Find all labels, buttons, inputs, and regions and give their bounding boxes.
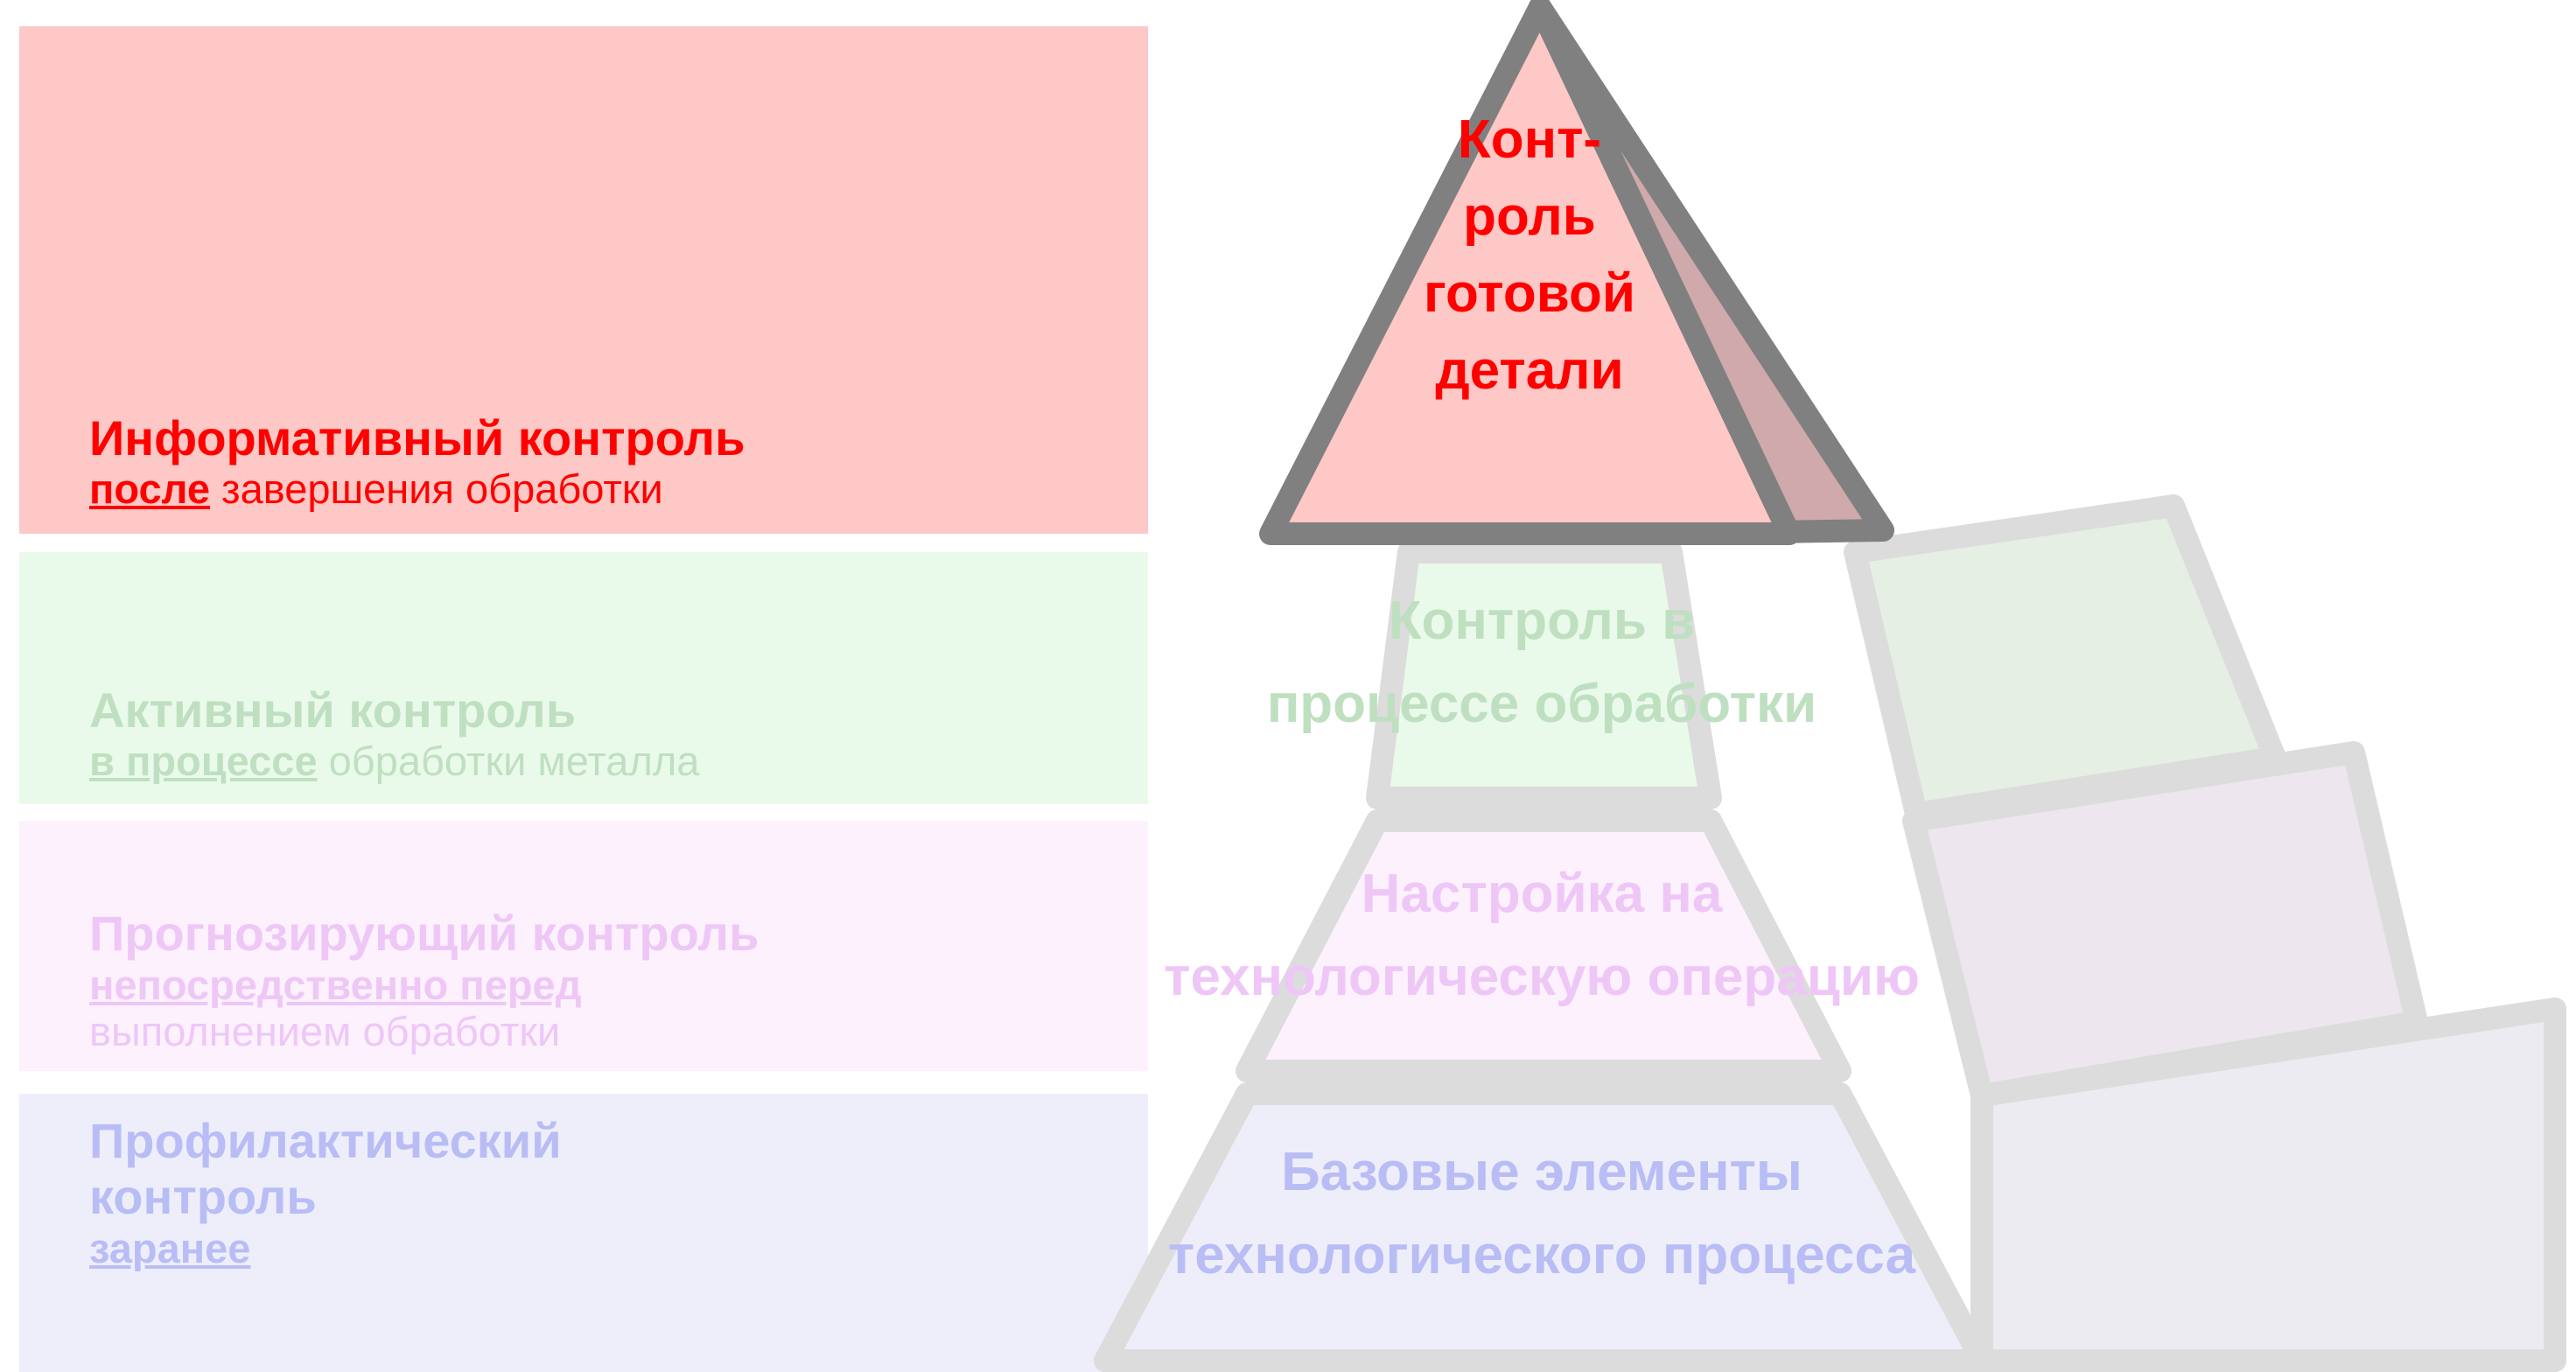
pyramid-tier-predictive <box>1247 821 1840 1071</box>
pyramid-side-face-active <box>1855 506 2275 814</box>
pyramid-label-predictive-line1: Настройка на <box>1361 864 1723 924</box>
pyramid-diagram-canvas: Информативный контроль после завершения … <box>0 0 2576 1372</box>
pyramid-label-informative-line1: Конт- <box>1458 109 1601 170</box>
pyramid-label-predictive-line2: технологическую операцию <box>1164 947 1920 1007</box>
pyramid-label-preventive-line1: Базовые элементы <box>1281 1142 1802 1202</box>
pyramid-label-active-line1: Контроль в <box>1389 591 1696 651</box>
pyramid-label-active-line2: процессе обработки <box>1267 674 1816 734</box>
pyramid-label-informative-line2: роль <box>1463 186 1596 247</box>
pyramid-label-informative-line3: готовой <box>1424 263 1635 324</box>
pyramid-label-informative-line4: детали <box>1435 340 1623 401</box>
pyramid-label-preventive-line2: технологического процесса <box>1168 1225 1916 1285</box>
pyramid-graphic: Конт- роль готовой детали Контроль в про… <box>0 0 2576 1372</box>
